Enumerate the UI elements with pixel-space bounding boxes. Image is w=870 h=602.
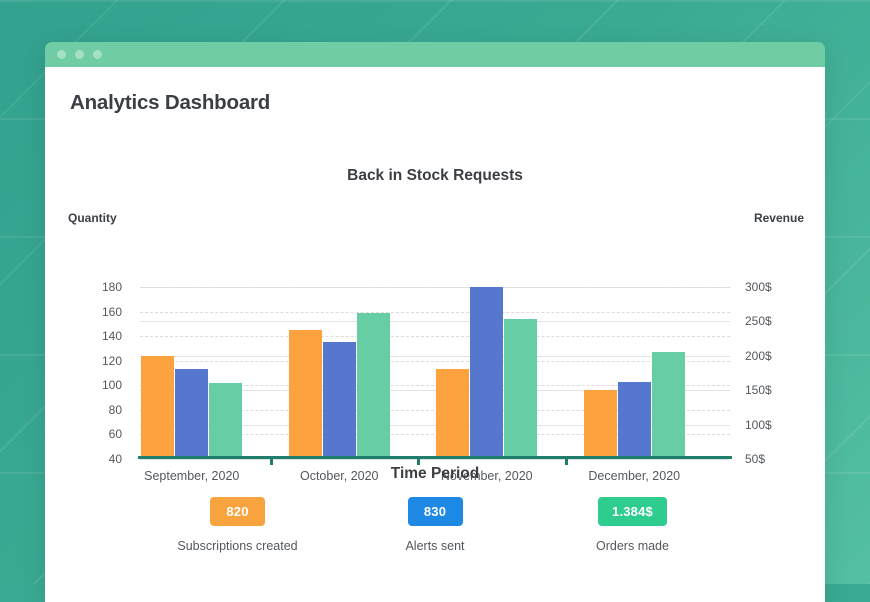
gridline-quantity (140, 287, 730, 288)
stat-card: 820Subscriptions created (150, 497, 325, 553)
axis-baseline (138, 456, 732, 459)
period-title: Time Period (45, 465, 825, 483)
bar-revenue-0 (209, 383, 242, 459)
dashboard-page: Analytics Dashboard Back in Stock Reques… (45, 67, 825, 602)
gridline-quantity (140, 361, 730, 362)
right-axis-tick-label: 150$ (745, 383, 772, 397)
right-axis-tick-label: 250$ (745, 314, 772, 328)
bar-alerts-3 (618, 382, 651, 459)
bar-alerts-1 (323, 342, 356, 459)
gridline-revenue (140, 356, 730, 357)
left-axis-tick-label: 80 (109, 403, 122, 417)
stat-label-0: Subscriptions created (150, 539, 325, 553)
right-axis-tick-label: 100$ (745, 418, 772, 432)
left-axis-tick-label: 40 (109, 452, 122, 466)
bar-revenue-2 (504, 319, 537, 459)
stat-card: 830Alerts sent (348, 497, 523, 553)
bar-subscriptions-1 (289, 330, 322, 459)
window-close-dot[interactable] (57, 50, 66, 59)
left-axis-tick-label: 160 (102, 305, 122, 319)
bar-subscriptions-3 (584, 390, 617, 459)
window-titlebar (45, 42, 825, 67)
page-title: Analytics Dashboard (70, 91, 270, 115)
bar-subscriptions-2 (436, 369, 469, 459)
right-axis-tick-label: 300$ (745, 280, 772, 294)
stat-label-2: Orders made (545, 539, 720, 553)
right-axis-caption: Revenue (754, 211, 804, 225)
gridline-quantity (140, 312, 730, 313)
stat-badge-2[interactable]: 1.384$ (598, 497, 667, 526)
left-axis-tick-label: 120 (102, 354, 122, 368)
bar-chart: Quantity Revenue 180160140120100806040 3… (45, 205, 825, 450)
stat-label-1: Alerts sent (348, 539, 523, 553)
window-minimize-dot[interactable] (75, 50, 84, 59)
left-axis-tick-label: 100 (102, 378, 122, 392)
bar-alerts-2 (470, 287, 503, 459)
x-axis-tick (417, 458, 420, 465)
chart-title: Back in Stock Requests (45, 167, 825, 185)
browser-window: Analytics Dashboard Back in Stock Reques… (45, 42, 825, 602)
gridline-revenue (140, 321, 730, 322)
bar-revenue-1 (357, 313, 390, 459)
x-axis-tick (270, 458, 273, 465)
window-maximize-dot[interactable] (93, 50, 102, 59)
left-axis-tick-label: 140 (102, 329, 122, 343)
stat-badge-1[interactable]: 830 (408, 497, 463, 526)
stat-badge-0[interactable]: 820 (210, 497, 265, 526)
bar-revenue-3 (652, 352, 685, 459)
gridline-quantity (140, 336, 730, 337)
right-axis-tick-label: 200$ (745, 349, 772, 363)
stat-card: 1.384$Orders made (545, 497, 720, 553)
x-axis-tick (565, 458, 568, 465)
stats-row: 820Subscriptions created830Alerts sent1.… (150, 497, 720, 553)
plot-area (140, 240, 730, 459)
right-axis-tick-label: 50$ (745, 452, 765, 466)
left-axis-tick-label: 60 (109, 427, 122, 441)
left-axis-caption: Quantity (68, 211, 117, 225)
bar-alerts-0 (175, 369, 208, 459)
bar-subscriptions-0 (141, 356, 174, 459)
gridline-revenue (140, 459, 730, 460)
left-axis-tick-label: 180 (102, 280, 122, 294)
